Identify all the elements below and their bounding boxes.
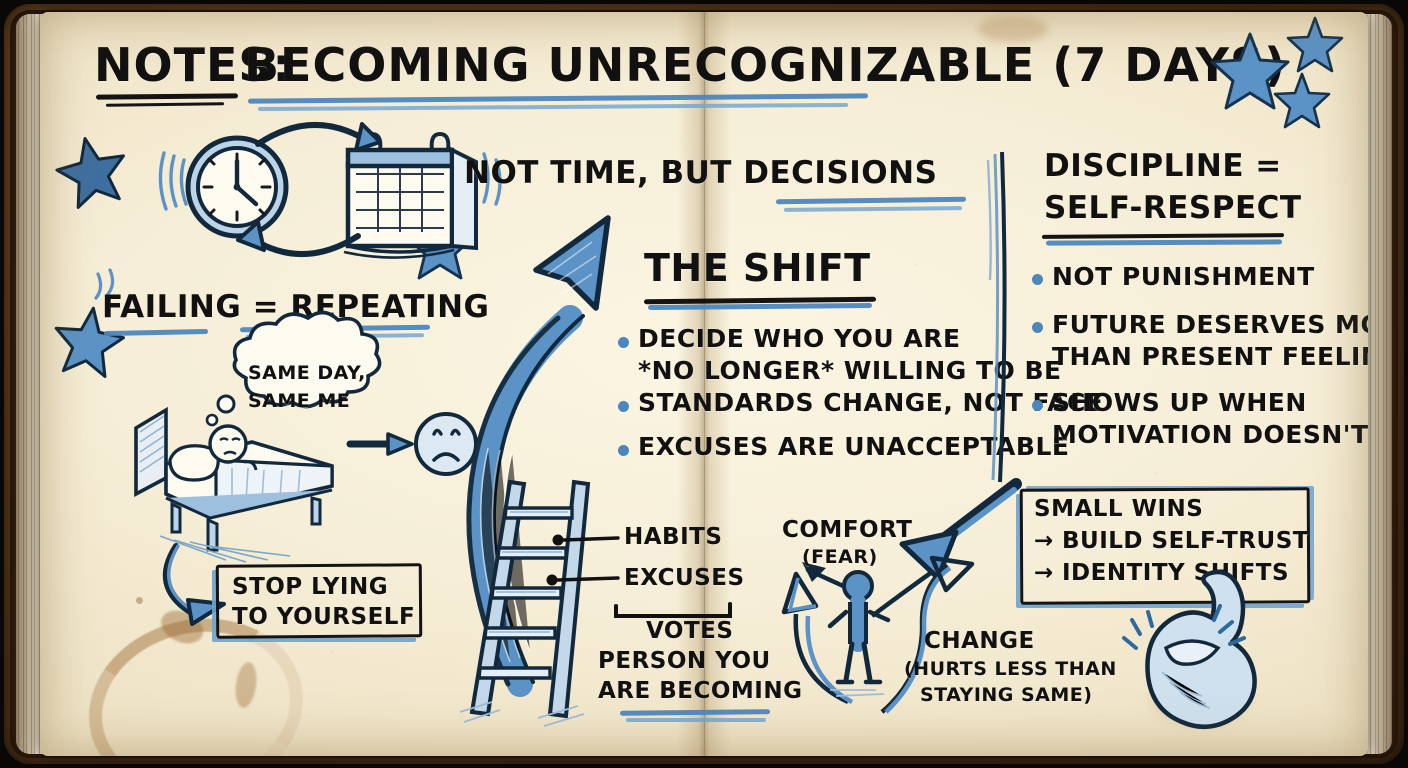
notebook: NOTES: BECOMING UNRECOGNIZABLE (7 DAYS)	[0, 0, 1408, 768]
flexed-bicep-icon	[40, 12, 1368, 752]
open-notebook-spread: NOTES: BECOMING UNRECOGNIZABLE (7 DAYS)	[40, 12, 1368, 756]
